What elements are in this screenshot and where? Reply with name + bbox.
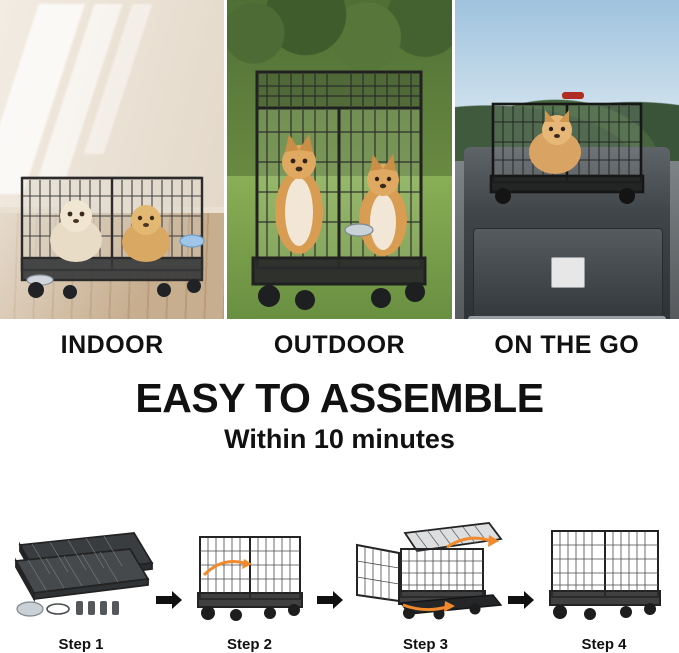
- step-2-illustration: [182, 517, 317, 629]
- clamp-part: [47, 604, 69, 614]
- feeding-bowl: [345, 224, 373, 236]
- step-3-label: Step 3: [343, 636, 508, 653]
- assembly-steps-row: Step 1: [0, 497, 679, 653]
- assembly-step-2: Step 2: [182, 517, 317, 653]
- water-bowl-floor: [178, 232, 206, 248]
- product-infographic: INDOOR: [0, 0, 679, 653]
- roof-marker-light: [562, 92, 584, 99]
- page-subtitle: Within 10 minutes: [0, 424, 679, 455]
- arrow-icon: [317, 591, 343, 653]
- assembly-step-1: Step 1: [6, 517, 156, 653]
- dog-crate-truckbed: [487, 96, 647, 206]
- license-plate: [551, 257, 584, 288]
- panel-indoor: INDOOR: [0, 0, 224, 367]
- bowl-part: [17, 602, 43, 616]
- hardware-parts: [76, 601, 119, 615]
- panel-on-the-go: ON THE GO: [455, 0, 679, 367]
- step-3-illustration: [343, 517, 508, 629]
- step-2-label: Step 2: [182, 636, 317, 653]
- step-4-illustration: [534, 517, 674, 629]
- caption-outdoor: OUTDOOR: [227, 331, 451, 360]
- dog-crate-outdoor: [243, 62, 439, 327]
- arrow-icon: [508, 591, 534, 653]
- arrow-icon: [156, 591, 182, 653]
- assembly-step-4: Step 4: [534, 517, 674, 653]
- step-1-illustration: [6, 517, 156, 629]
- page-title: EASY TO ASSEMBLE: [0, 375, 679, 422]
- caption-indoor: INDOOR: [0, 331, 224, 360]
- lifestyle-panel-row: INDOOR: [0, 0, 679, 367]
- caption-on-the-go: ON THE GO: [455, 331, 679, 360]
- panel-outdoor: OUTDOOR: [227, 0, 451, 367]
- headline-block: EASY TO ASSEMBLE Within 10 minutes: [0, 367, 679, 497]
- step-1-label: Step 1: [6, 636, 156, 653]
- assembly-step-3: Step 3: [343, 517, 508, 653]
- step-4-label: Step 4: [534, 636, 674, 653]
